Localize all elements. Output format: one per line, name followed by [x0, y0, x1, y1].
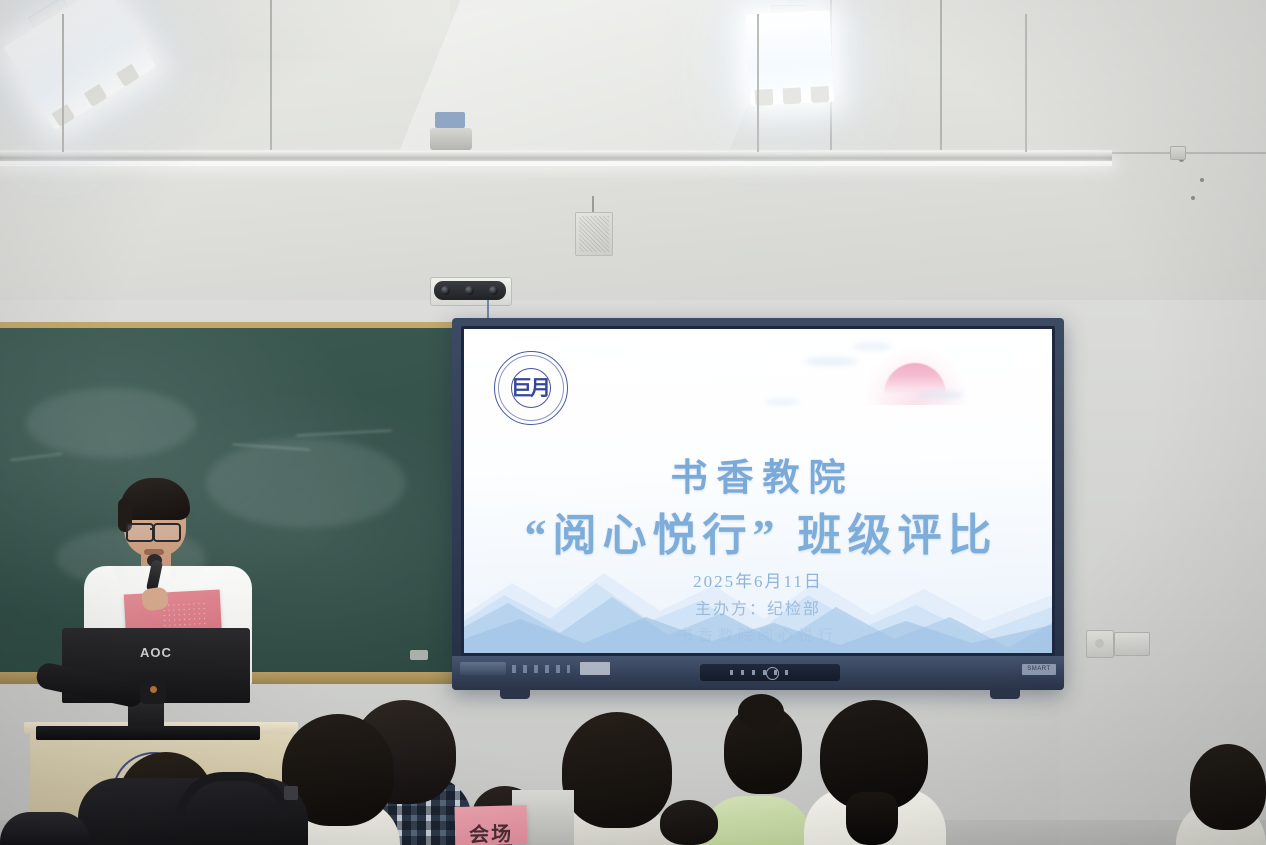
- board-clip: [410, 650, 428, 660]
- monitor-base: [36, 726, 260, 740]
- display-screen[interactable]: 巨月 书香教院 “阅心悦行” 班级评比 2025年6月11日 主办方：纪检部 书…: [464, 329, 1052, 653]
- foreground-shoulder: [0, 812, 90, 845]
- audience-member-5-hair-bun: [738, 694, 784, 730]
- eyeglasses-bridge: [150, 528, 155, 530]
- camera-lens-left-icon: [441, 286, 450, 295]
- seal-glyph: 巨月: [511, 368, 549, 406]
- slide-date: 2025年6月11日: [464, 567, 1052, 592]
- school-seal-logo: 巨月: [494, 351, 566, 423]
- backpack-buckle: [284, 786, 298, 800]
- eyeglasses-right-lens-icon: [153, 523, 181, 542]
- cloud-wisp-3: [916, 391, 964, 399]
- display-button-row[interactable]: [512, 665, 570, 673]
- light-rail-glow: [0, 161, 1112, 166]
- display-foot-right: [990, 690, 1020, 699]
- lamp-a-rod: [62, 14, 64, 152]
- camera-lens-right-icon: [489, 286, 498, 295]
- projector-mount-bracket: [435, 112, 465, 128]
- ceiling-conduit-1: [270, 0, 272, 150]
- display-label-plate: [580, 662, 610, 675]
- slide-title-primary: 书香教院: [464, 447, 1052, 501]
- ceiling-fitting-dot-3: [1191, 196, 1195, 200]
- ceiling-fitting-dot-2: [1200, 178, 1204, 182]
- slide-host-organizer: 主办方：纪检部: [464, 595, 1052, 619]
- lamp-b-rod: [757, 14, 759, 152]
- audience-member-6-ponytail: [846, 792, 898, 845]
- cloud-wisp-4: [764, 399, 800, 405]
- ceiling-speaker: [575, 212, 613, 256]
- power-button[interactable]: [766, 667, 779, 680]
- conference-camera-bar: [434, 281, 506, 300]
- speaker-grille: [579, 216, 609, 252]
- outlet-socket-icon: [1095, 639, 1104, 648]
- presentation-slide: 巨月 书香教院 “阅心悦行” 班级评比 2025年6月11日 主办方：纪检部 书…: [464, 329, 1052, 653]
- ceiling-conduit-3: [940, 0, 942, 150]
- cloud-wisp-1: [804, 357, 858, 366]
- monitor-brand-label: AOC: [62, 645, 250, 660]
- display-foot-left: [500, 690, 530, 699]
- monitor-arm-screw: [150, 686, 157, 693]
- classroom-scene: 巨月 书香教院 “阅心悦行” 班级评比 2025年6月11日 主办方：纪检部 书…: [0, 0, 1266, 845]
- camera-lens-center-icon: [465, 286, 474, 295]
- display-port-panel[interactable]: [460, 662, 506, 675]
- cloud-wisp-2: [852, 343, 892, 350]
- audience-member-7-head: [1190, 744, 1266, 830]
- chalk-smudge-1: [26, 388, 196, 458]
- audience-member-9-head: [660, 800, 718, 845]
- lamp-b-rod-2: [1025, 14, 1027, 152]
- eyeglasses-left-lens-icon: [126, 523, 154, 542]
- slide-watermark: 书香教院阅心悦行: [464, 624, 1052, 645]
- audience-member-4-head: [562, 712, 672, 828]
- slide-title-secondary: “阅心悦行” 班级评比: [464, 499, 1052, 563]
- venue-sign-label: 会场: [455, 817, 528, 845]
- projector-housing: [430, 128, 472, 150]
- display-brand-badge: SMART: [1022, 664, 1056, 675]
- chalk-streak-3: [296, 429, 392, 436]
- junction-box: [1114, 632, 1150, 656]
- wall-sensor: [1170, 146, 1186, 160]
- display-control-dots: [730, 670, 796, 675]
- chalk-streak-1: [10, 453, 62, 461]
- chalk-smudge-2: [206, 438, 406, 528]
